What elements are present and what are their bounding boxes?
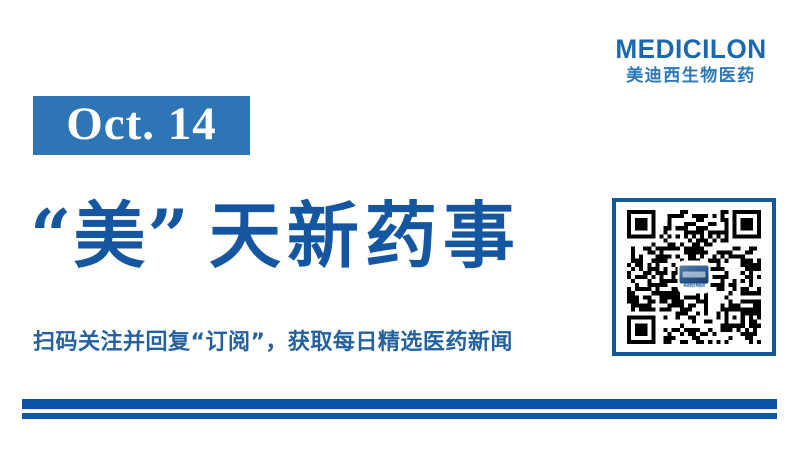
headline-quoted-segment: “美” <box>30 200 191 272</box>
brand-logo: MEDICILON 美迪西生物医药 <box>600 36 782 85</box>
qr-code[interactable]: 美迪西生物医药 <box>627 210 761 344</box>
headline-main-segment: 天新药事 <box>209 200 521 272</box>
date-badge: Oct. 14 <box>33 96 250 155</box>
qr-code-frame: 美迪西生物医药 <box>612 198 776 356</box>
brand-subtitle-cn: 美迪西生物医药 <box>600 68 782 85</box>
divider-thin <box>22 413 777 419</box>
poster-canvas: MEDICILON 美迪西生物医药 Oct. 14 “美” 天新药事 扫码关注并… <box>0 0 800 468</box>
page-title: “美” 天新药事 <box>30 186 590 286</box>
qr-center-logo: 美迪西生物医药 <box>678 261 711 294</box>
brand-wordmark: MEDICILON <box>603 36 780 63</box>
qr-center-logo-image <box>680 266 709 284</box>
qr-center-logo-caption: 美迪西生物医药 <box>683 285 705 288</box>
subtitle-text: 扫码关注并回复“订阅”，获取每日精选医药新闻 <box>33 330 513 356</box>
date-badge-label: Oct. 14 <box>66 101 217 151</box>
divider-thick <box>22 399 777 409</box>
